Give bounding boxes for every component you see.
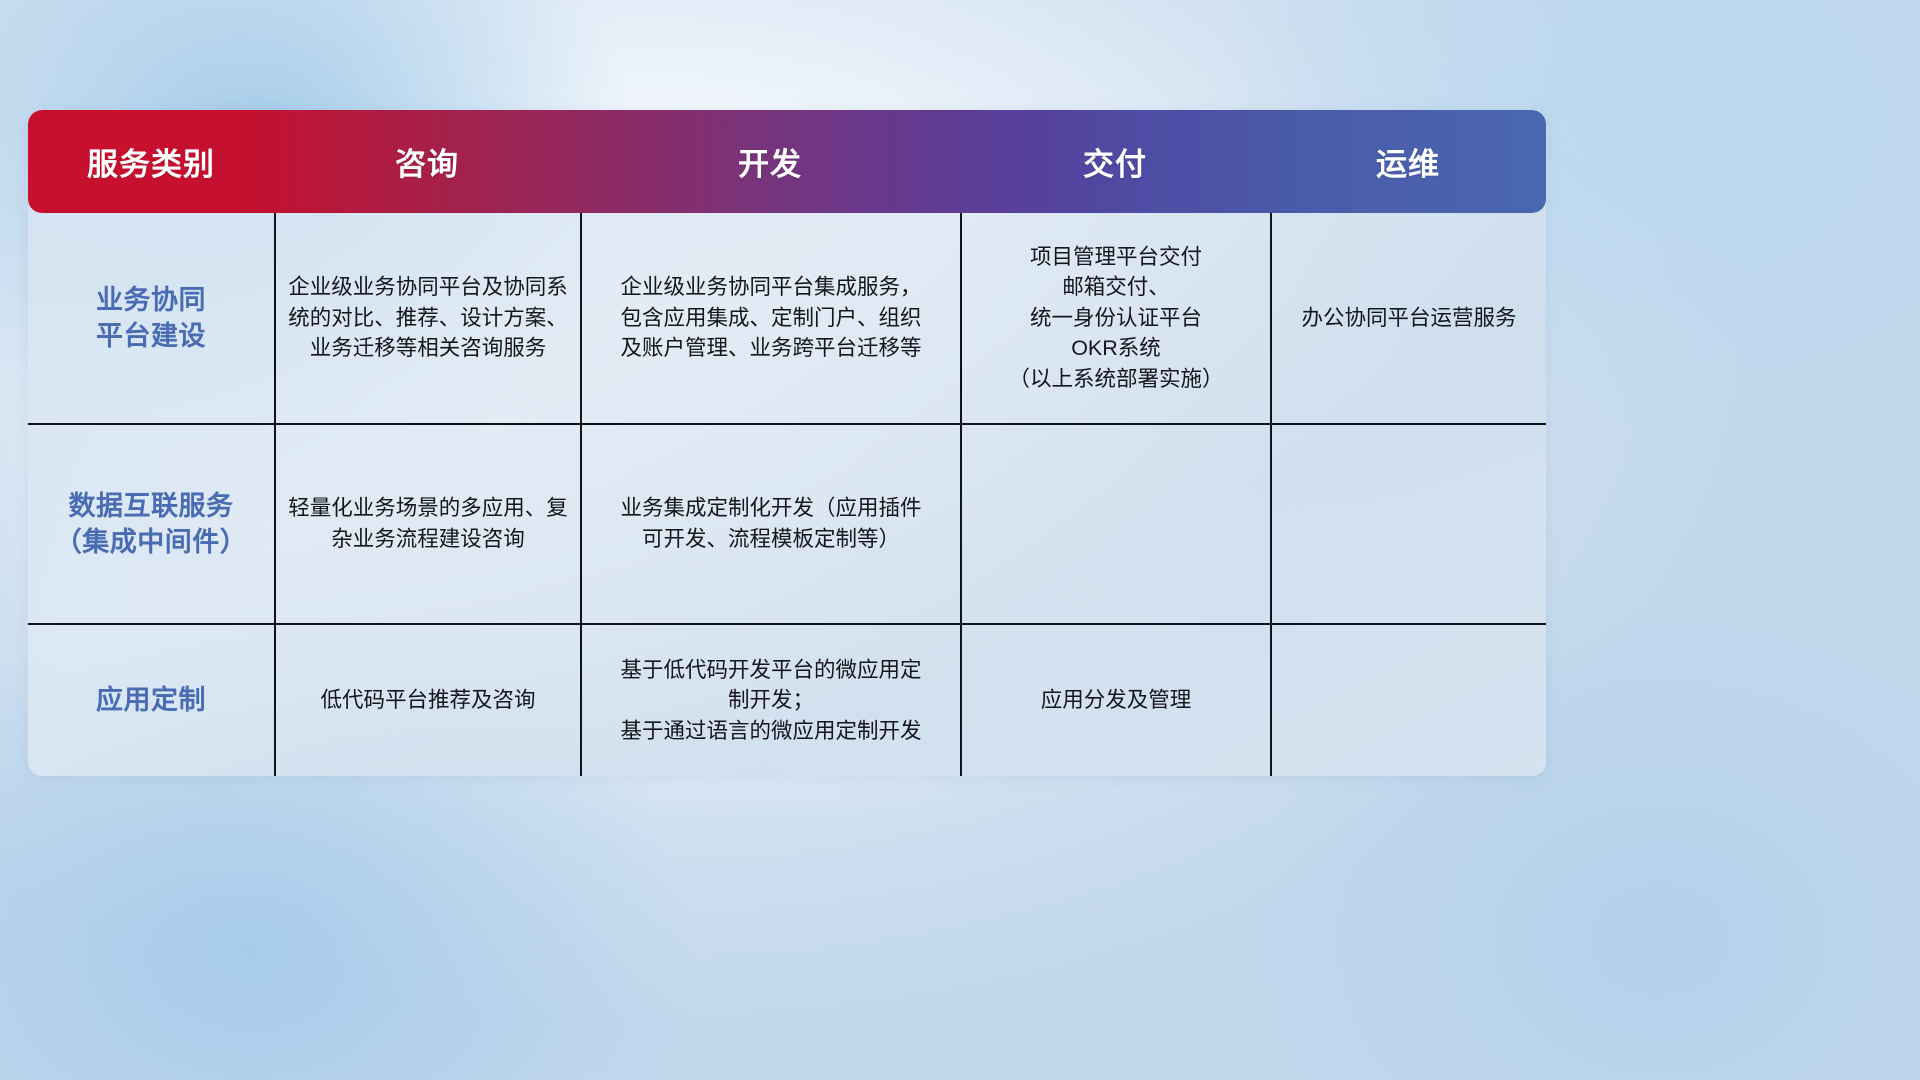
cell-delivery (960, 425, 1270, 623)
cell-delivery: 应用分发及管理 (960, 625, 1270, 776)
cell-development: 基于低代码开发平台的微应用定 制开发； 基于通过语言的微应用定制开发 (580, 625, 960, 776)
cell-category: 数据互联服务 （集成中间件） (28, 425, 274, 623)
cell-operations (1270, 625, 1546, 776)
table-body: 业务协同 平台建设 企业级业务协同平台及协同系 统的对比、推荐、设计方案、 业务… (28, 213, 1546, 776)
cell-development: 业务集成定制化开发（应用插件 可开发、流程模板定制等） (580, 425, 960, 623)
cell-category: 应用定制 (28, 625, 274, 776)
column-header-category: 服务类别 (28, 139, 274, 184)
table-row: 应用定制 低代码平台推荐及咨询 基于低代码开发平台的微应用定 制开发； 基于通过… (28, 623, 1546, 776)
column-header-consulting: 咨询 (274, 139, 580, 184)
table-row: 数据互联服务 （集成中间件） 轻量化业务场景的多应用、复 杂业务流程建设咨询 业… (28, 423, 1546, 623)
table-row: 业务协同 平台建设 企业级业务协同平台及协同系 统的对比、推荐、设计方案、 业务… (28, 213, 1546, 423)
cell-consulting: 企业级业务协同平台及协同系 统的对比、推荐、设计方案、 业务迁移等相关咨询服务 (274, 213, 580, 423)
cell-operations (1270, 425, 1546, 623)
service-matrix-table: 服务类别 咨询 开发 交付 运维 业务协同 平台建设 企业级业务协同平台及协同系… (28, 110, 1546, 776)
cell-development: 企业级业务协同平台集成服务， 包含应用集成、定制门户、组织 及账户管理、业务跨平… (580, 213, 960, 423)
column-header-operations: 运维 (1270, 139, 1546, 184)
cell-consulting: 低代码平台推荐及咨询 (274, 625, 580, 776)
column-header-delivery: 交付 (960, 139, 1270, 184)
cell-operations: 办公协同平台运营服务 (1270, 213, 1546, 423)
cell-consulting: 轻量化业务场景的多应用、复 杂业务流程建设咨询 (274, 425, 580, 623)
cell-category: 业务协同 平台建设 (28, 213, 274, 423)
table-header-row: 服务类别 咨询 开发 交付 运维 (28, 110, 1546, 213)
cell-delivery: 项目管理平台交付 邮箱交付、 统一身份认证平台 OKR系统 （以上系统部署实施） (960, 213, 1270, 423)
column-header-development: 开发 (580, 139, 960, 184)
